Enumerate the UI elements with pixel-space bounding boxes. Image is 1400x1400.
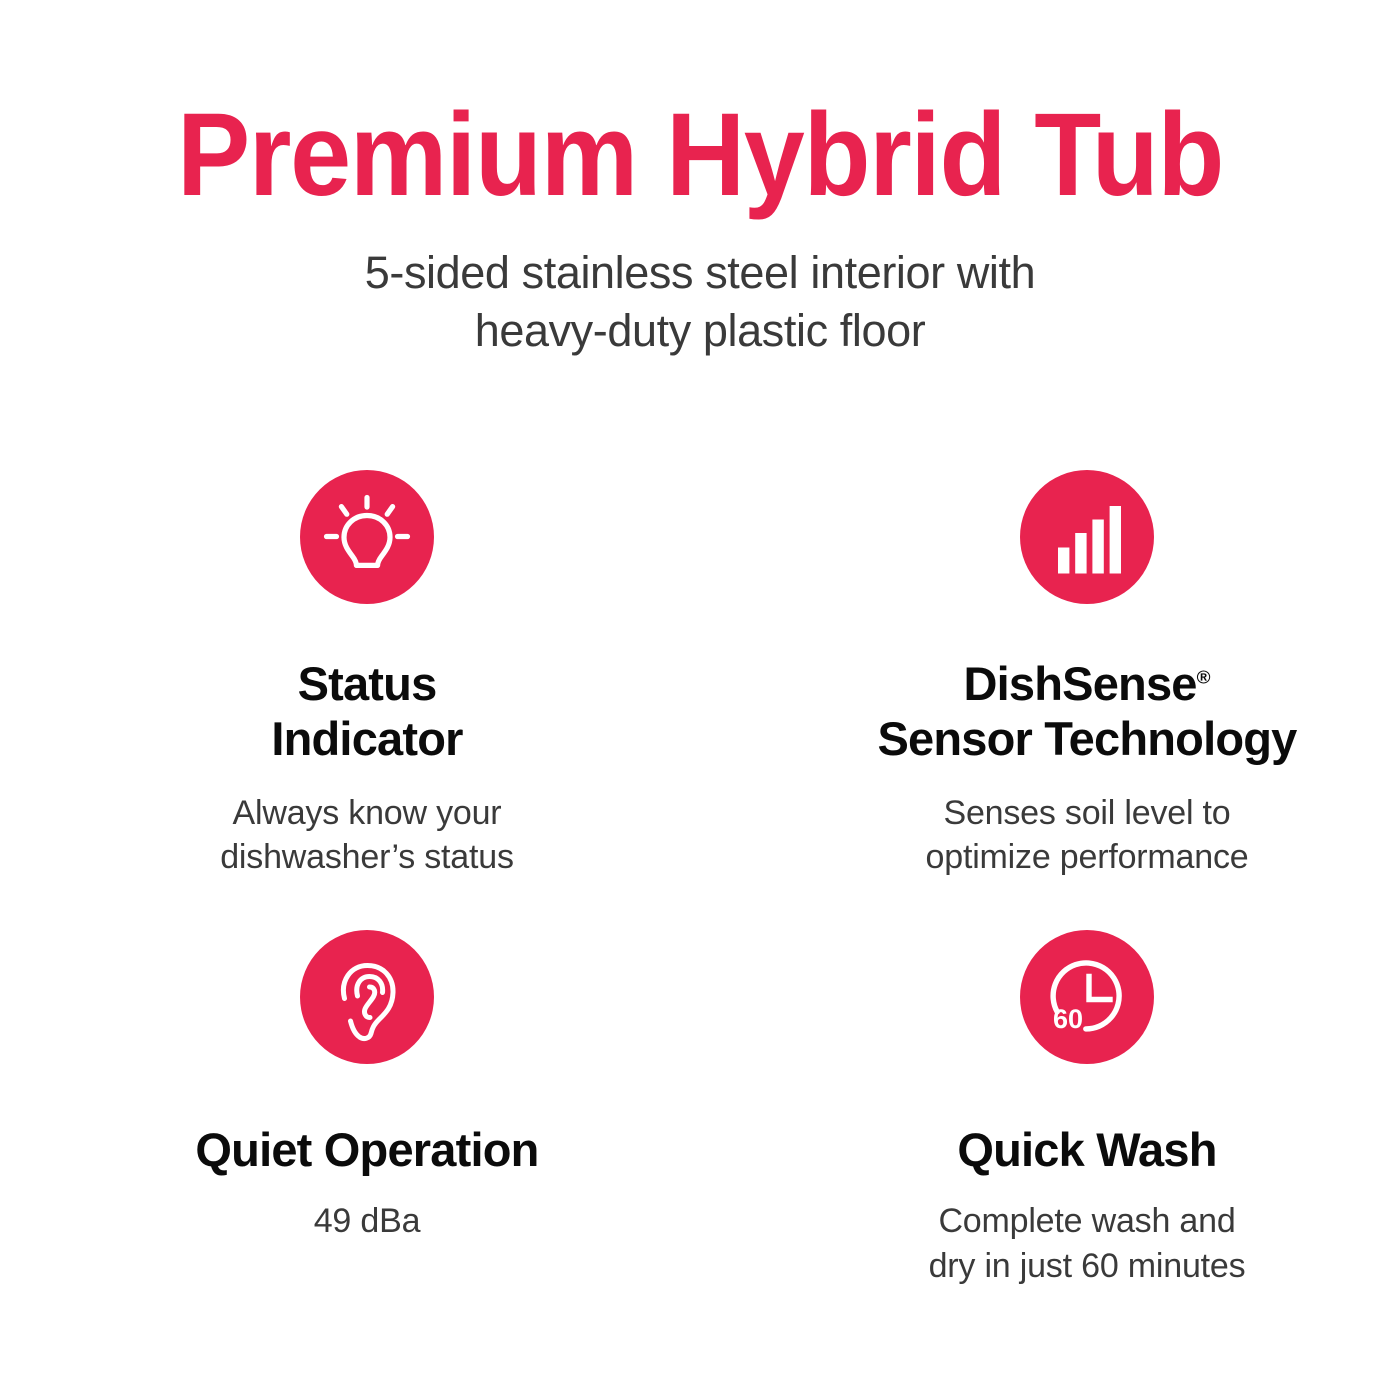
feature-desc-line-1: Senses soil level to [926,791,1249,835]
header: Premium Hybrid Tub 5-sided stainless ste… [0,0,1400,359]
clock-minutes-label: 60 [1053,1004,1083,1034]
feature-status-indicator: Status Indicator Always know your dishwa… [0,470,700,930]
feature-heading: Status Indicator [271,604,462,767]
feature-heading: Quick Wash [957,1064,1216,1177]
lightbulb-icon-badge [300,470,434,604]
feature-heading-line-1: Quiet Operation [195,1122,538,1177]
feature-heading-line-2: Indicator [271,711,462,766]
feature-quick-wash: 60 Quick Wash Complete wash and dry in j… [700,930,1400,1310]
page-title: Premium Hybrid Tub [49,96,1351,214]
lightbulb-icon [319,489,415,585]
clock-60-icon: 60 [1039,949,1135,1045]
feature-heading-line-2: Sensor Technology [877,711,1296,766]
feature-heading-text: DishSense [964,657,1197,710]
feature-quiet-operation: Quiet Operation 49 dBa [0,930,700,1310]
signal-bars-icon [1039,489,1135,585]
feature-dishsense-sensor-technology: DishSense® Sensor Technology Senses soil… [700,470,1400,930]
feature-heading: Quiet Operation [195,1064,538,1177]
feature-description: Senses soil level to optimize performanc… [926,767,1249,879]
feature-desc-line-1: Always know your [220,791,514,835]
feature-heading-line-1: Quick Wash [957,1122,1216,1177]
feature-desc-line-2: dry in just 60 minutes [929,1244,1246,1288]
feature-desc-line-1: 49 dBa [314,1199,421,1243]
infographic-page: Premium Hybrid Tub 5-sided stainless ste… [0,0,1400,1400]
feature-heading: DishSense® Sensor Technology [877,604,1296,767]
signal-bars-icon-badge [1020,470,1154,604]
feature-description: Complete wash and dry in just 60 minutes [929,1177,1246,1287]
feature-heading-line-1: Status [271,656,462,711]
feature-description: Always know your dishwasher’s status [220,767,514,879]
subtitle-line-1: 5-sided stainless steel interior with [0,244,1400,302]
registered-trademark-icon: ® [1197,666,1211,687]
ear-icon-badge [300,930,434,1064]
feature-desc-line-2: optimize performance [926,835,1249,879]
feature-heading-line-1: DishSense® [877,656,1296,711]
subtitle-line-2: heavy-duty plastic floor [0,302,1400,360]
page-subtitle: 5-sided stainless steel interior with he… [0,214,1400,359]
feature-desc-line-1: Complete wash and [929,1199,1246,1243]
clock-60-icon-badge: 60 [1020,930,1154,1064]
feature-grid: Status Indicator Always know your dishwa… [0,470,1400,1310]
feature-description: 49 dBa [314,1177,421,1243]
ear-icon [319,949,415,1045]
feature-desc-line-2: dishwasher’s status [220,835,514,879]
